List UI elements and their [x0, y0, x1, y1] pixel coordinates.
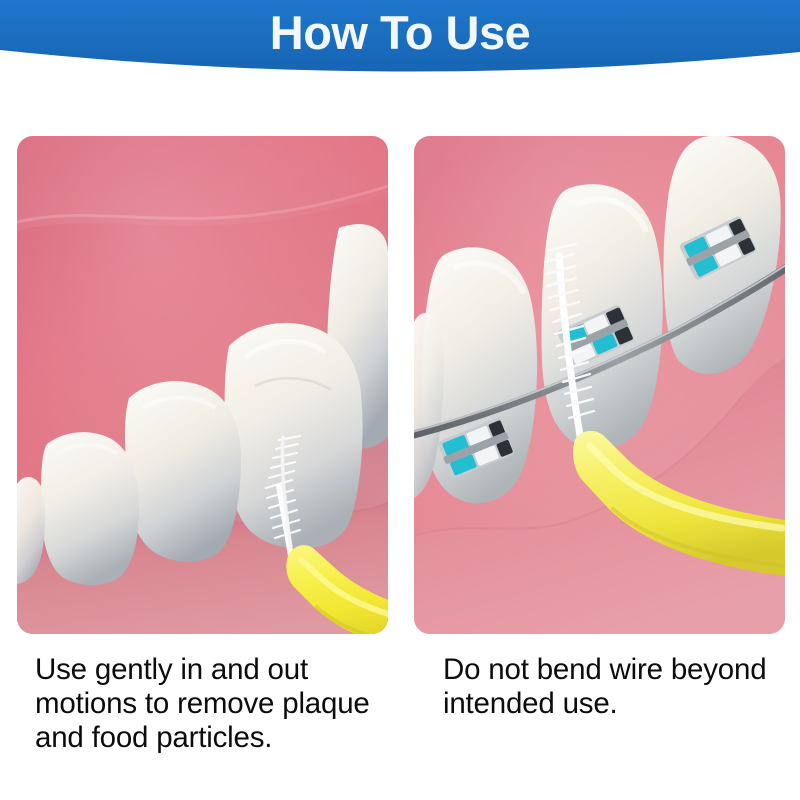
interdental-brush-with-braces-photo [414, 136, 785, 634]
interdental-brush-between-natural-teeth-photo [17, 136, 388, 634]
caption-left: Use gently in and out motions to remove … [35, 653, 410, 755]
instruction-panel-right [414, 136, 785, 634]
instruction-panel-left [17, 136, 388, 634]
caption-right: Do not bend wire beyond intended use. [443, 653, 793, 721]
